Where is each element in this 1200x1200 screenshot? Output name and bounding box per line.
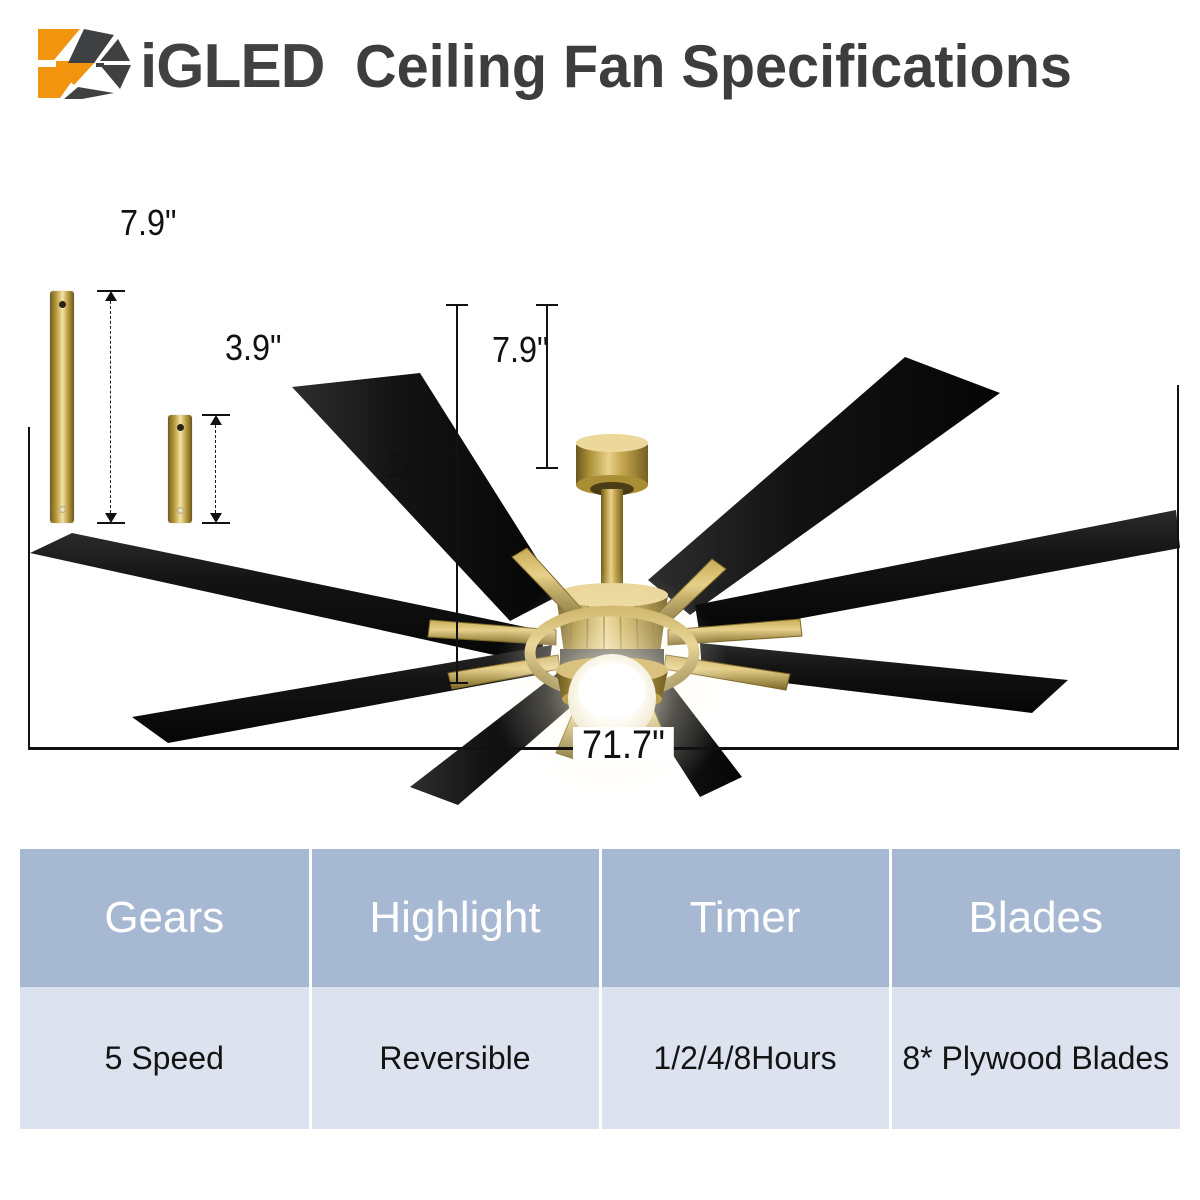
digled-aperture-logo-icon xyxy=(34,27,138,101)
fan-total-height-tick-top xyxy=(446,304,468,306)
spec-value-blades: 8* Plywood Blades xyxy=(890,987,1180,1129)
span-dim-line-right xyxy=(705,747,1179,750)
spec-header-timer: Timer xyxy=(600,849,890,987)
spec-value-highlight: Reversible xyxy=(310,987,600,1129)
fan-span-dim-label: 71.7" xyxy=(573,727,674,763)
page-header: iGLED Ceiling Fan Specifications xyxy=(0,0,1200,125)
spec-header-gears: Gears xyxy=(20,849,310,987)
spec-header-blades: Blades xyxy=(890,849,1180,987)
fan-mount-height-tick-bottom xyxy=(536,467,558,469)
fan-total-height-dim-label: 14.2" xyxy=(385,447,460,483)
spec-value-label: Reversible xyxy=(379,1040,530,1076)
spec-table-header-row: Gears Highlight Timer Blades xyxy=(20,849,1180,987)
page-title: Ceiling Fan Specifications xyxy=(355,32,1072,102)
fan-total-height-tick-bottom xyxy=(446,682,468,684)
spec-header-label: Timer xyxy=(690,893,801,942)
fan-mount-height-tick-top xyxy=(536,304,558,306)
fan-ceiling-mount xyxy=(576,434,648,589)
spec-header-highlight: Highlight xyxy=(310,849,600,987)
product-diagram: 7.9" 3.9" xyxy=(0,125,1200,825)
span-extension-left xyxy=(28,427,30,749)
spec-value-label: 1/2/4/8Hours xyxy=(653,1040,836,1076)
fan-mount-height-dim-label: 7.9" xyxy=(492,332,549,368)
spec-value-label: 8* Plywood Blades xyxy=(902,1040,1169,1076)
spec-value-gears: 5 Speed xyxy=(20,987,310,1129)
spec-header-label: Blades xyxy=(968,893,1103,942)
span-extension-right xyxy=(1177,385,1179,749)
fan-total-height-dim-line xyxy=(456,304,458,684)
spec-value-timer: 1/2/4/8Hours xyxy=(600,987,890,1129)
fan-led-light xyxy=(492,570,732,810)
logo-wordmark: iGLED xyxy=(140,36,324,98)
spec-value-label: 5 Speed xyxy=(105,1040,224,1076)
ceiling-fan-illustration xyxy=(0,125,1200,825)
spec-header-label: Highlight xyxy=(369,893,540,942)
spec-header-label: Gears xyxy=(104,893,224,942)
fan-blade-1 xyxy=(292,373,560,621)
spec-table-data-row: 5 Speed Reversible 1/2/4/8Hours 8* Plywo… xyxy=(20,987,1180,1129)
specification-table: Gears Highlight Timer Blades 5 Speed Rev… xyxy=(20,849,1180,1129)
